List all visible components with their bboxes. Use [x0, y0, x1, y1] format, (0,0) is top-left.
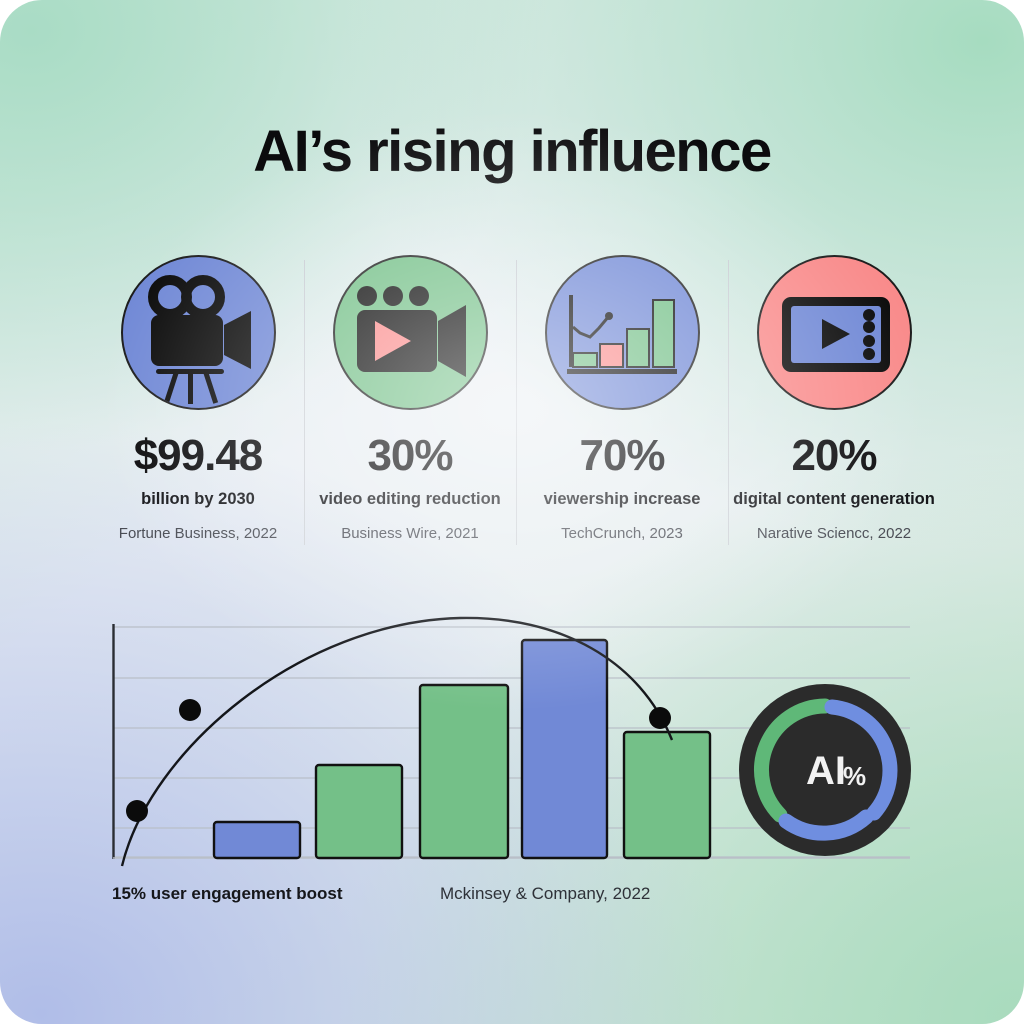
stat-value: 20%	[791, 434, 876, 478]
stat-source: Narative Sciencc, 2022	[757, 525, 911, 542]
bar-3	[420, 685, 508, 858]
stat-card-3[interactable]: 70% viewership increase TechCrunch, 2023	[516, 250, 728, 550]
infographic-canvas: AI’s rising influence $99.48 billion by …	[0, 0, 1024, 1024]
stat-source: TechCrunch, 2023	[561, 525, 683, 542]
chart-footer: 15% user engagement boost Mckinsey & Com…	[0, 884, 1024, 918]
stat-value: 70%	[579, 434, 664, 478]
bar-1	[214, 822, 300, 858]
stat-card-2[interactable]: 30% video editing reduction Business Wir…	[304, 250, 516, 550]
stat-card-1[interactable]: $99.48 billion by 2030 Fortune Business,…	[92, 250, 304, 550]
bar-2	[316, 765, 402, 858]
chart-annotation: 15% user engagement boost	[112, 884, 343, 904]
stat-source: Business Wire, 2021	[341, 525, 479, 542]
movie-camera-icon	[121, 255, 276, 410]
bar-5	[624, 732, 710, 858]
video-player-screen-icon	[757, 255, 912, 410]
bar-chart: AI %	[0, 600, 1024, 930]
trend-point-1	[126, 800, 148, 822]
bar-4	[522, 640, 607, 858]
stat-value: $99.48	[134, 434, 263, 478]
badge-text: AI	[806, 749, 846, 793]
stat-label: video editing reduction	[319, 490, 501, 509]
page-title: AI’s rising influence	[0, 118, 1024, 185]
stat-source: Fortune Business, 2022	[119, 525, 277, 542]
stat-label: digital content generation	[733, 490, 935, 509]
stat-value: 30%	[367, 434, 452, 478]
bar-chart-trend-icon	[545, 255, 700, 410]
trend-point-3	[649, 707, 671, 729]
bar-chart-trend-icon-glyph	[547, 257, 700, 410]
stat-cards-row: $99.48 billion by 2030 Fortune Business,…	[92, 250, 940, 550]
ai-percent-donut-badge[interactable]: AI %	[739, 684, 911, 856]
chart-source: Mckinsey & Company, 2022	[440, 884, 650, 904]
trend-point-2	[179, 699, 201, 721]
stat-label: billion by 2030	[141, 490, 255, 509]
badge-suffix: %	[843, 761, 866, 791]
stat-label: viewership increase	[544, 490, 701, 509]
chart-bars	[214, 640, 710, 858]
video-player-screen-icon-glyph	[759, 257, 912, 410]
stat-card-4[interactable]: 20% digital content generation Narative …	[728, 250, 940, 550]
video-camera-play-icon	[333, 255, 488, 410]
bar-chart-svg: AI %	[0, 600, 1024, 930]
movie-camera-icon-glyph	[123, 257, 276, 410]
video-camera-play-icon-glyph	[335, 257, 488, 410]
